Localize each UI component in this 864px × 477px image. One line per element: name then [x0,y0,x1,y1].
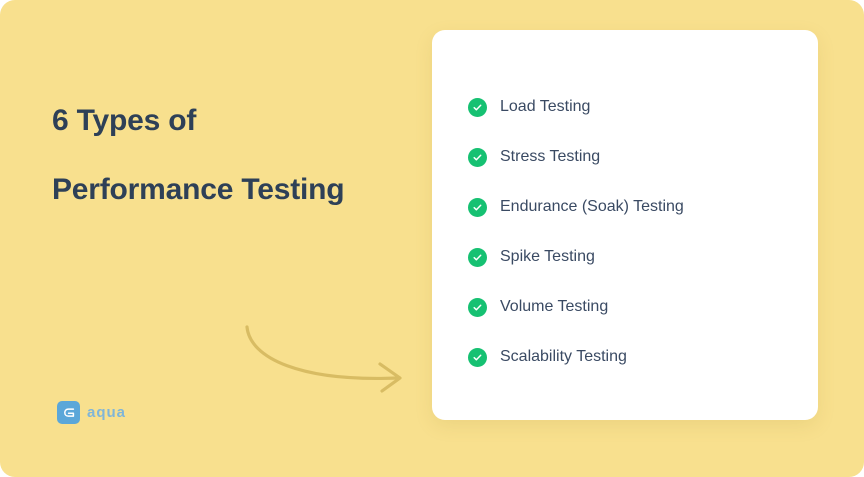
list-item-label: Spike Testing [500,249,595,265]
page-title: 6 Types of Performance Testing [52,105,412,205]
list-item-label: Load Testing [500,99,590,115]
aqua-wordmark: aqua [87,405,126,420]
list-item: Stress Testing [468,132,800,182]
curved-arrow-icon [230,310,420,400]
check-circle-icon [468,348,487,367]
performance-testing-type-list: Load Testing Stress Testing Endurance (S… [468,82,800,382]
headline-line-2: Performance Testing [52,174,412,206]
check-circle-icon [468,148,487,167]
check-circle-icon [468,298,487,317]
list-item-label: Endurance (Soak) Testing [500,199,684,215]
headline-line-1: 6 Types of [52,105,412,137]
check-circle-icon [468,98,487,117]
list-item: Spike Testing [468,232,800,282]
list-item: Endurance (Soak) Testing [468,182,800,232]
aqua-logo: aqua [57,401,126,424]
check-circle-icon [468,198,487,217]
slide-canvas: 6 Types of Performance Testing aqua [0,0,864,477]
types-card: Load Testing Stress Testing Endurance (S… [432,30,818,420]
list-item: Scalability Testing [468,332,800,382]
list-item-label: Scalability Testing [500,349,627,365]
list-item: Volume Testing [468,282,800,332]
check-circle-icon [468,248,487,267]
aqua-logo-mark-icon [57,401,80,424]
list-item-label: Volume Testing [500,299,608,315]
list-item: Load Testing [468,82,800,132]
left-column: 6 Types of Performance Testing aqua [0,0,432,477]
list-item-label: Stress Testing [500,149,600,165]
